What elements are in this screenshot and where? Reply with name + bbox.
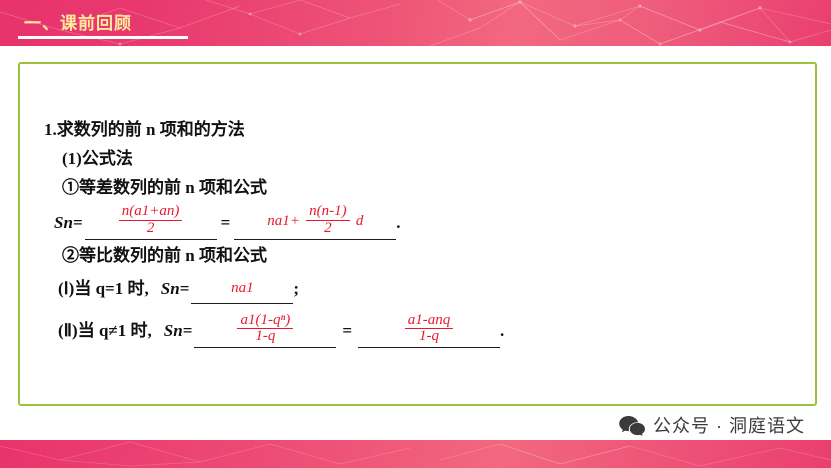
heading-line: 1.求数列的前 n 项和的方法 [44, 116, 504, 143]
case1-blank: na1 [191, 273, 293, 304]
case2-lhs: Sn= [154, 317, 195, 344]
case2-fraction-1: a1(1-qⁿ) 1-q [237, 313, 293, 346]
case2-frac2-num: a1-anq [405, 313, 454, 329]
case2-suffix: . [500, 317, 504, 344]
page-title: 一、课前回顾 [24, 9, 132, 34]
case2-equals: = [336, 317, 358, 344]
formula1-fraction-1: n(a1+an) 2 [119, 204, 183, 237]
case2-prefix: (Ⅱ)当 q≠1 时, [58, 317, 154, 344]
case2-fraction-2: a1-anq 1-q [405, 313, 454, 346]
formula-case-2: (Ⅱ)当 q≠1 时, Sn= a1(1-qⁿ) 1-q = a1-anq 1-… [44, 314, 504, 349]
case1-prefix: (Ⅰ)当 q=1 时, [58, 275, 151, 302]
case2-blank-1: a1(1-qⁿ) 1-q [194, 314, 336, 349]
watermark-text: 公众号 · 洞庭语文 [653, 412, 805, 438]
item-1-text: ①等差数列的前 n 项和公式 [62, 178, 267, 197]
formula1-blank-2: na1+ n(n-1) 2 d [234, 205, 396, 240]
watermark: 公众号 · 洞庭语文 [618, 412, 805, 438]
item-2: ②等比数列的前 n 项和公式 [44, 242, 504, 269]
lesson-body: 1.求数列的前 n 项和的方法 (1)公式法 ①等差数列的前 n 项和公式 Sn… [44, 116, 504, 350]
formula-case-1: (Ⅰ)当 q=1 时, Sn= na1 ; [44, 273, 504, 304]
case2-frac1-num: a1(1-qⁿ) [237, 313, 293, 329]
formula1-frac1-num: n(a1+an) [119, 204, 183, 220]
case2-blank-2: a1-anq 1-q [358, 314, 500, 349]
formula1-blank-1: n(a1+an) 2 [85, 205, 217, 240]
case1-suffix: ; [293, 275, 299, 302]
case1-lhs: Sn= [151, 275, 192, 302]
content-box: 1.求数列的前 n 项和的方法 (1)公式法 ①等差数列的前 n 项和公式 Sn… [18, 62, 817, 406]
header-band: 一、课前回顾 [0, 0, 831, 46]
footer-decorative-lines [0, 440, 831, 468]
formula1-frac1-den: 2 [119, 220, 183, 237]
formula1-equals: = [217, 209, 235, 236]
formula1-frac2-den: 2 [306, 220, 350, 237]
formula1-period: . [396, 209, 400, 236]
formula-sum-arithmetic: Sn= n(a1+an) 2 = na1+ n(n-1) 2 d . [44, 205, 504, 240]
formula1-term: na1+ [267, 213, 300, 229]
item-2-text: ②等比数列的前 n 项和公式 [62, 246, 267, 265]
case2-frac2-den: 1-q [405, 328, 454, 345]
case2-frac1-den: 1-q [237, 328, 293, 345]
sub-heading-1: (1)公式法 [44, 145, 504, 172]
slide: 一、课前回顾 1.求数列的前 n 项和的方法 (1)公式法 ①等差数列的前 n … [0, 0, 831, 468]
heading-text: 1.求数列的前 n 项和的方法 [44, 120, 245, 139]
wechat-icon [618, 414, 644, 436]
footer-band [0, 440, 831, 468]
item-1: ①等差数列的前 n 项和公式 [44, 174, 504, 201]
formula1-lhs: Sn= [54, 209, 85, 236]
case1-value: na1 [231, 280, 254, 296]
formula1-tail: d [356, 213, 364, 229]
sub-heading-1-text: (1)公式法 [62, 149, 133, 168]
formula1-fraction-2: n(n-1) 2 [306, 204, 350, 237]
formula1-frac2-num: n(n-1) [306, 204, 350, 220]
title-underline [18, 36, 188, 39]
